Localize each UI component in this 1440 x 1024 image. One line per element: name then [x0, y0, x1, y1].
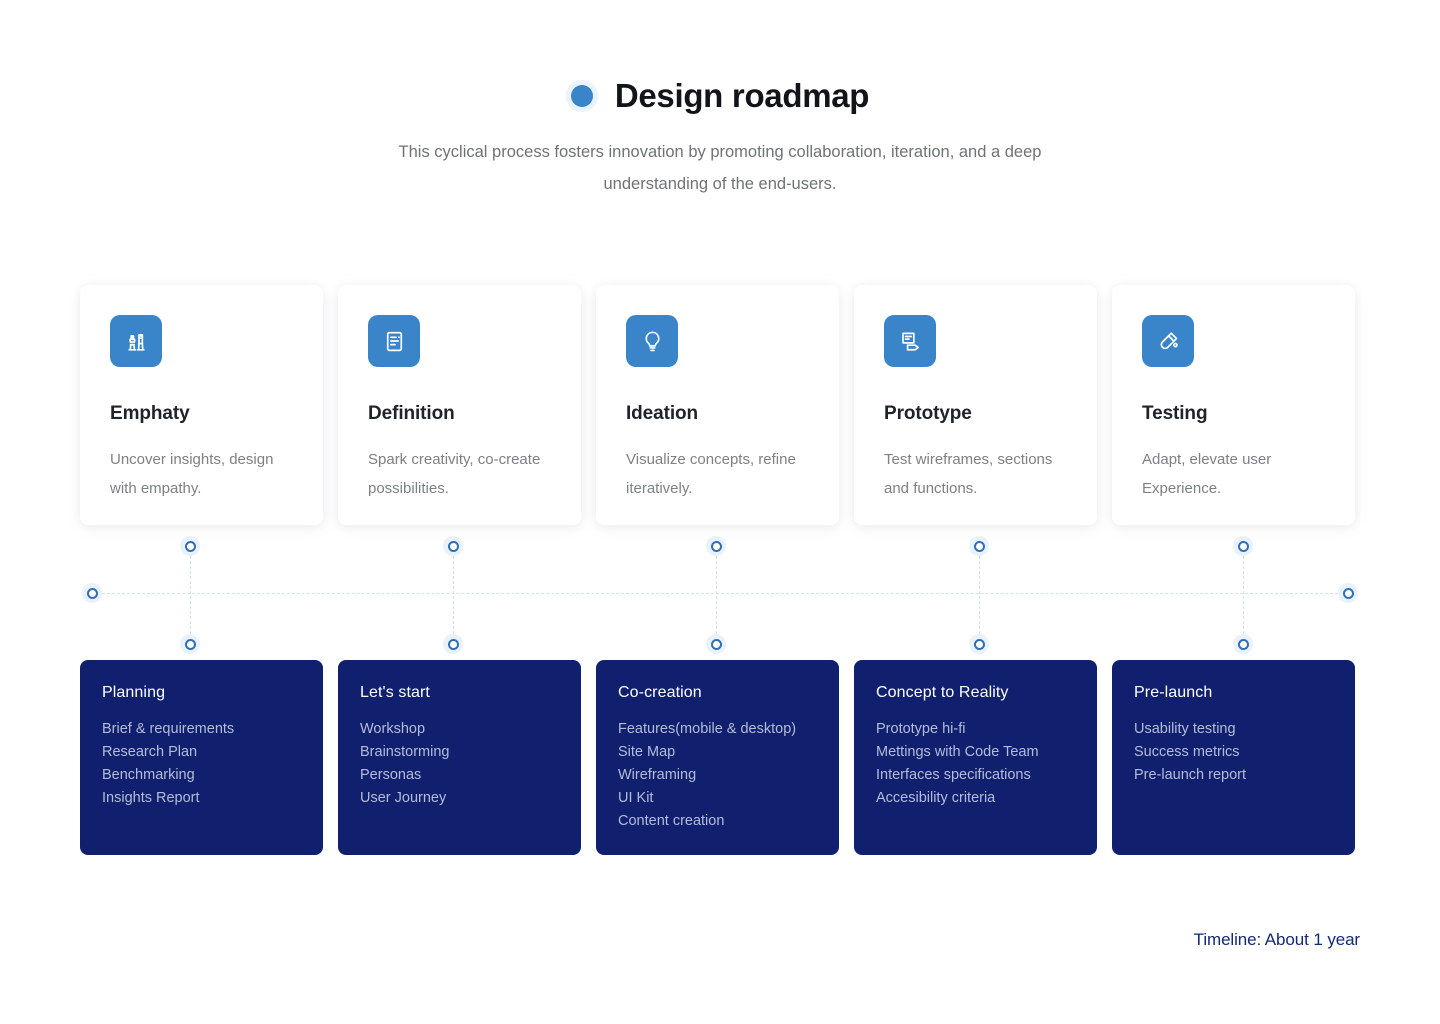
deliverable-panel[interactable]: Concept to Reality Prototype hi-fi Metti…	[854, 660, 1097, 855]
list-item: Content creation	[618, 810, 817, 833]
connector-vertical-line	[1243, 546, 1244, 644]
page-subtitle: This cyclical process fosters innovation…	[355, 136, 1085, 200]
panel-list: Brief & requirements Research Plan Bench…	[102, 718, 301, 810]
stage-title: Ideation	[626, 403, 809, 425]
list-item: Benchmarking	[102, 764, 301, 787]
list-item: Brainstorming	[360, 741, 559, 764]
page-title: Design roadmap	[615, 78, 869, 114]
test-tube-icon	[1156, 329, 1181, 354]
list-item: User Journey	[360, 787, 559, 810]
stage-title: Definition	[368, 403, 551, 425]
deliverable-panel[interactable]: Co-creation Features(mobile & desktop) S…	[596, 660, 839, 855]
deliverable-panels-row: Planning Brief & requirements Research P…	[80, 660, 1360, 855]
list-item: Research Plan	[102, 741, 301, 764]
connector-network	[0, 525, 1440, 660]
stage-description: Spark creativity, co-create possibilitie…	[368, 445, 551, 503]
stage-title: Emphaty	[110, 403, 293, 425]
footer: Timeline: About 1 year	[0, 930, 1360, 950]
chess-pieces-icon	[124, 329, 149, 354]
stage-card[interactable]: Emphaty Uncover insights, design with em…	[80, 285, 323, 525]
connector-vertical-line	[716, 546, 717, 644]
list-item: Interfaces specifications	[876, 764, 1075, 787]
stage-title: Testing	[1142, 403, 1325, 425]
panel-title: Co-creation	[618, 684, 817, 702]
list-item: Features(mobile & desktop)	[618, 718, 817, 741]
list-item: Success metrics	[1134, 741, 1333, 764]
list-item: Insights Report	[102, 787, 301, 810]
panel-title: Concept to Reality	[876, 684, 1075, 702]
list-item: Accesibility criteria	[876, 787, 1075, 810]
connector-node	[706, 536, 726, 556]
panel-list: Usability testing Success metrics Pre-la…	[1134, 718, 1333, 787]
stage-icon-box	[368, 315, 420, 367]
stage-description: Uncover insights, design with empathy.	[110, 445, 293, 503]
list-item: UI Kit	[618, 787, 817, 810]
stage-card[interactable]: Definition Spark creativity, co-create p…	[338, 285, 581, 525]
list-item: Wireframing	[618, 764, 817, 787]
stage-card[interactable]: Prototype Test wireframes, sections and …	[854, 285, 1097, 525]
connector-node	[443, 536, 463, 556]
connector-node	[1233, 634, 1253, 654]
stage-icon-box	[884, 315, 936, 367]
panel-title: Pre-launch	[1134, 684, 1333, 702]
timeline-label: Timeline: About 1 year	[1194, 930, 1360, 949]
panel-list: Workshop Brainstorming Personas User Jou…	[360, 718, 559, 810]
title-row: Design roadmap	[0, 78, 1440, 114]
connector-node	[180, 634, 200, 654]
stage-title: Prototype	[884, 403, 1067, 425]
connector-node	[969, 536, 989, 556]
stage-icon-box	[110, 315, 162, 367]
deliverable-panel[interactable]: Pre-launch Usability testing Success met…	[1112, 660, 1355, 855]
connector-node	[1233, 536, 1253, 556]
document-icon	[382, 329, 407, 354]
connector-vertical-line	[453, 546, 454, 644]
connector-vertical-line	[190, 546, 191, 644]
list-item: Prototype hi-fi	[876, 718, 1075, 741]
design-roadmap-page: Design roadmap This cyclical process fos…	[0, 0, 1440, 1024]
connector-node	[706, 634, 726, 654]
list-item: Usability testing	[1134, 718, 1333, 741]
stage-icon-box	[626, 315, 678, 367]
wireframe-icon	[898, 329, 923, 354]
header: Design roadmap This cyclical process fos…	[0, 0, 1440, 200]
deliverable-panel[interactable]: Planning Brief & requirements Research P…	[80, 660, 323, 855]
stage-description: Adapt, elevate user Experience.	[1142, 445, 1325, 503]
connector-vertical-line	[979, 546, 980, 644]
stage-card[interactable]: Testing Adapt, elevate user Experience.	[1112, 285, 1355, 525]
stage-icon-box	[1142, 315, 1194, 367]
list-item: Personas	[360, 764, 559, 787]
panel-list: Features(mobile & desktop) Site Map Wire…	[618, 718, 817, 833]
connector-node-start	[82, 583, 102, 603]
list-item: Site Map	[618, 741, 817, 764]
list-item: Workshop	[360, 718, 559, 741]
list-item: Brief & requirements	[102, 718, 301, 741]
connector-node	[180, 536, 200, 556]
list-item: Pre-launch report	[1134, 764, 1333, 787]
lightbulb-icon	[640, 329, 665, 354]
connector-horizontal-line	[92, 593, 1348, 594]
connector-node	[443, 634, 463, 654]
list-item: Mettings with Code Team	[876, 741, 1075, 764]
stage-description: Test wireframes, sections and functions.	[884, 445, 1067, 503]
stage-description: Visualize concepts, refine iteratively.	[626, 445, 809, 503]
connector-node	[969, 634, 989, 654]
stage-cards-row: Emphaty Uncover insights, design with em…	[80, 285, 1360, 525]
panel-title: Planning	[102, 684, 301, 702]
panel-list: Prototype hi-fi Mettings with Code Team …	[876, 718, 1075, 810]
stage-card[interactable]: Ideation Visualize concepts, refine iter…	[596, 285, 839, 525]
deliverable-panel[interactable]: Let's start Workshop Brainstorming Perso…	[338, 660, 581, 855]
bullet-dot-icon	[571, 85, 593, 107]
panel-title: Let's start	[360, 684, 559, 702]
connector-node-end	[1338, 583, 1358, 603]
